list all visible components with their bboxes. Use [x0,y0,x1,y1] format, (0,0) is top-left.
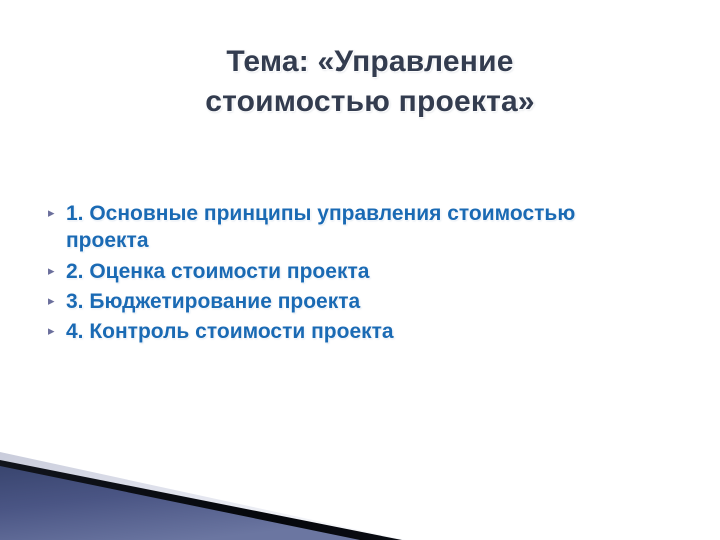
slide-bullet-list: ▸ 1. Основные принципы управления стоимо… [48,200,608,348]
title-line-2: стоимостью проекта» [60,82,680,122]
list-item: ▸ 4. Контроль стоимости проекта [48,318,608,345]
triangle-right-bullet-icon: ▸ [48,294,66,307]
title-line-1: Тема: «Управление [60,42,680,82]
bullet-item-label: 1. Основные принципы управления стоимост… [66,200,608,255]
diagonal-corner-bands [0,430,720,540]
slide-title: Тема: «Управление стоимостью проекта» [60,42,680,121]
navy-diagonal-wedge [0,466,360,540]
list-item: ▸ 2. Оценка стоимости проекта [48,258,608,285]
silver-diagonal-band [0,452,405,540]
list-item: ▸ 3. Бюджетирование проекта [48,288,608,315]
triangle-right-bullet-icon: ▸ [48,264,66,277]
triangle-right-bullet-icon: ▸ [48,324,66,337]
bullet-item-label: 4. Контроль стоимости проекта [66,318,608,345]
list-item: ▸ 1. Основные принципы управления стоимо… [48,200,608,255]
black-diagonal-band [0,460,402,540]
triangle-right-bullet-icon: ▸ [48,206,66,219]
bullet-item-label: 2. Оценка стоимости проекта [66,258,608,285]
presentation-slide: Тема: «Управление стоимостью проекта» ▸ … [0,0,720,540]
bullet-item-label: 3. Бюджетирование проекта [66,288,608,315]
